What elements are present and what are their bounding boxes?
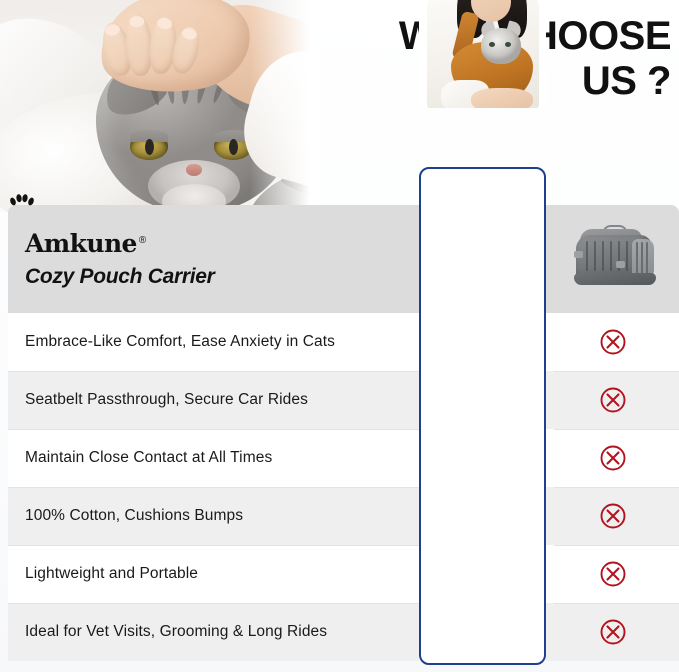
registered-mark: ® <box>139 235 146 246</box>
red-x-circle-icon <box>598 443 628 473</box>
table-row: Maintain Close Contact at All Times <box>8 429 679 487</box>
theirs-cell <box>546 487 679 545</box>
hero-cat-photo <box>0 0 320 212</box>
row-separator <box>554 603 679 604</box>
competitor-crate-image <box>546 205 679 313</box>
theirs-cell <box>546 545 679 603</box>
product-tagline: Cozy Pouch Carrier <box>25 265 419 289</box>
ours-column-background <box>421 169 544 663</box>
red-x-circle-icon <box>598 385 628 415</box>
red-x-circle-icon <box>598 617 628 647</box>
brand-name: Amkune <box>25 229 137 258</box>
feature-label: Maintain Close Contact at All Times <box>8 429 419 487</box>
row-separator <box>554 371 679 372</box>
theirs-cell <box>546 371 679 429</box>
row-separator <box>554 487 679 488</box>
table-header-row: Amkune ® Cozy Pouch Carrier <box>8 205 679 313</box>
brand-header-cell: Amkune ® Cozy Pouch Carrier <box>8 205 419 313</box>
infographic-page: WHY CHOOSE US ? Amkune ® Cozy Pouch Carr… <box>0 0 679 672</box>
table-row: Lightweight and Portable <box>8 545 679 603</box>
row-separator <box>8 487 419 488</box>
row-separator <box>8 371 419 372</box>
feature-label: Lightweight and Portable <box>8 545 419 603</box>
row-separator <box>554 545 679 546</box>
row-separator <box>554 429 679 430</box>
ours-product-image <box>419 0 546 108</box>
paw-print-icon <box>9 194 35 208</box>
feature-label: Ideal for Vet Visits, Grooming & Long Ri… <box>8 603 419 661</box>
feature-label: Embrace-Like Comfort, Ease Anxiety in Ca… <box>8 313 419 371</box>
red-x-circle-icon <box>598 327 628 357</box>
table-row: Ideal for Vet Visits, Grooming & Long Ri… <box>8 603 679 661</box>
table-row: Seatbelt Passthrough, Secure Car Rides <box>8 371 679 429</box>
row-separator <box>8 545 419 546</box>
theirs-header-cell <box>546 205 679 313</box>
row-separator <box>8 429 419 430</box>
feature-label: Seatbelt Passthrough, Secure Car Rides <box>8 371 419 429</box>
theirs-cell <box>546 313 679 371</box>
comparison-table: Amkune ® Cozy Pouch Carrier <box>8 205 679 666</box>
row-separator <box>8 603 419 604</box>
table-row: Embrace-Like Comfort, Ease Anxiety in Ca… <box>8 313 679 371</box>
table-row: 100% Cotton, Cushions Bumps <box>8 487 679 545</box>
theirs-cell <box>546 429 679 487</box>
theirs-cell <box>546 603 679 661</box>
brand-logo: Amkune ® <box>25 229 419 258</box>
red-x-circle-icon <box>598 559 628 589</box>
red-x-circle-icon <box>598 501 628 531</box>
feature-label: 100% Cotton, Cushions Bumps <box>8 487 419 545</box>
